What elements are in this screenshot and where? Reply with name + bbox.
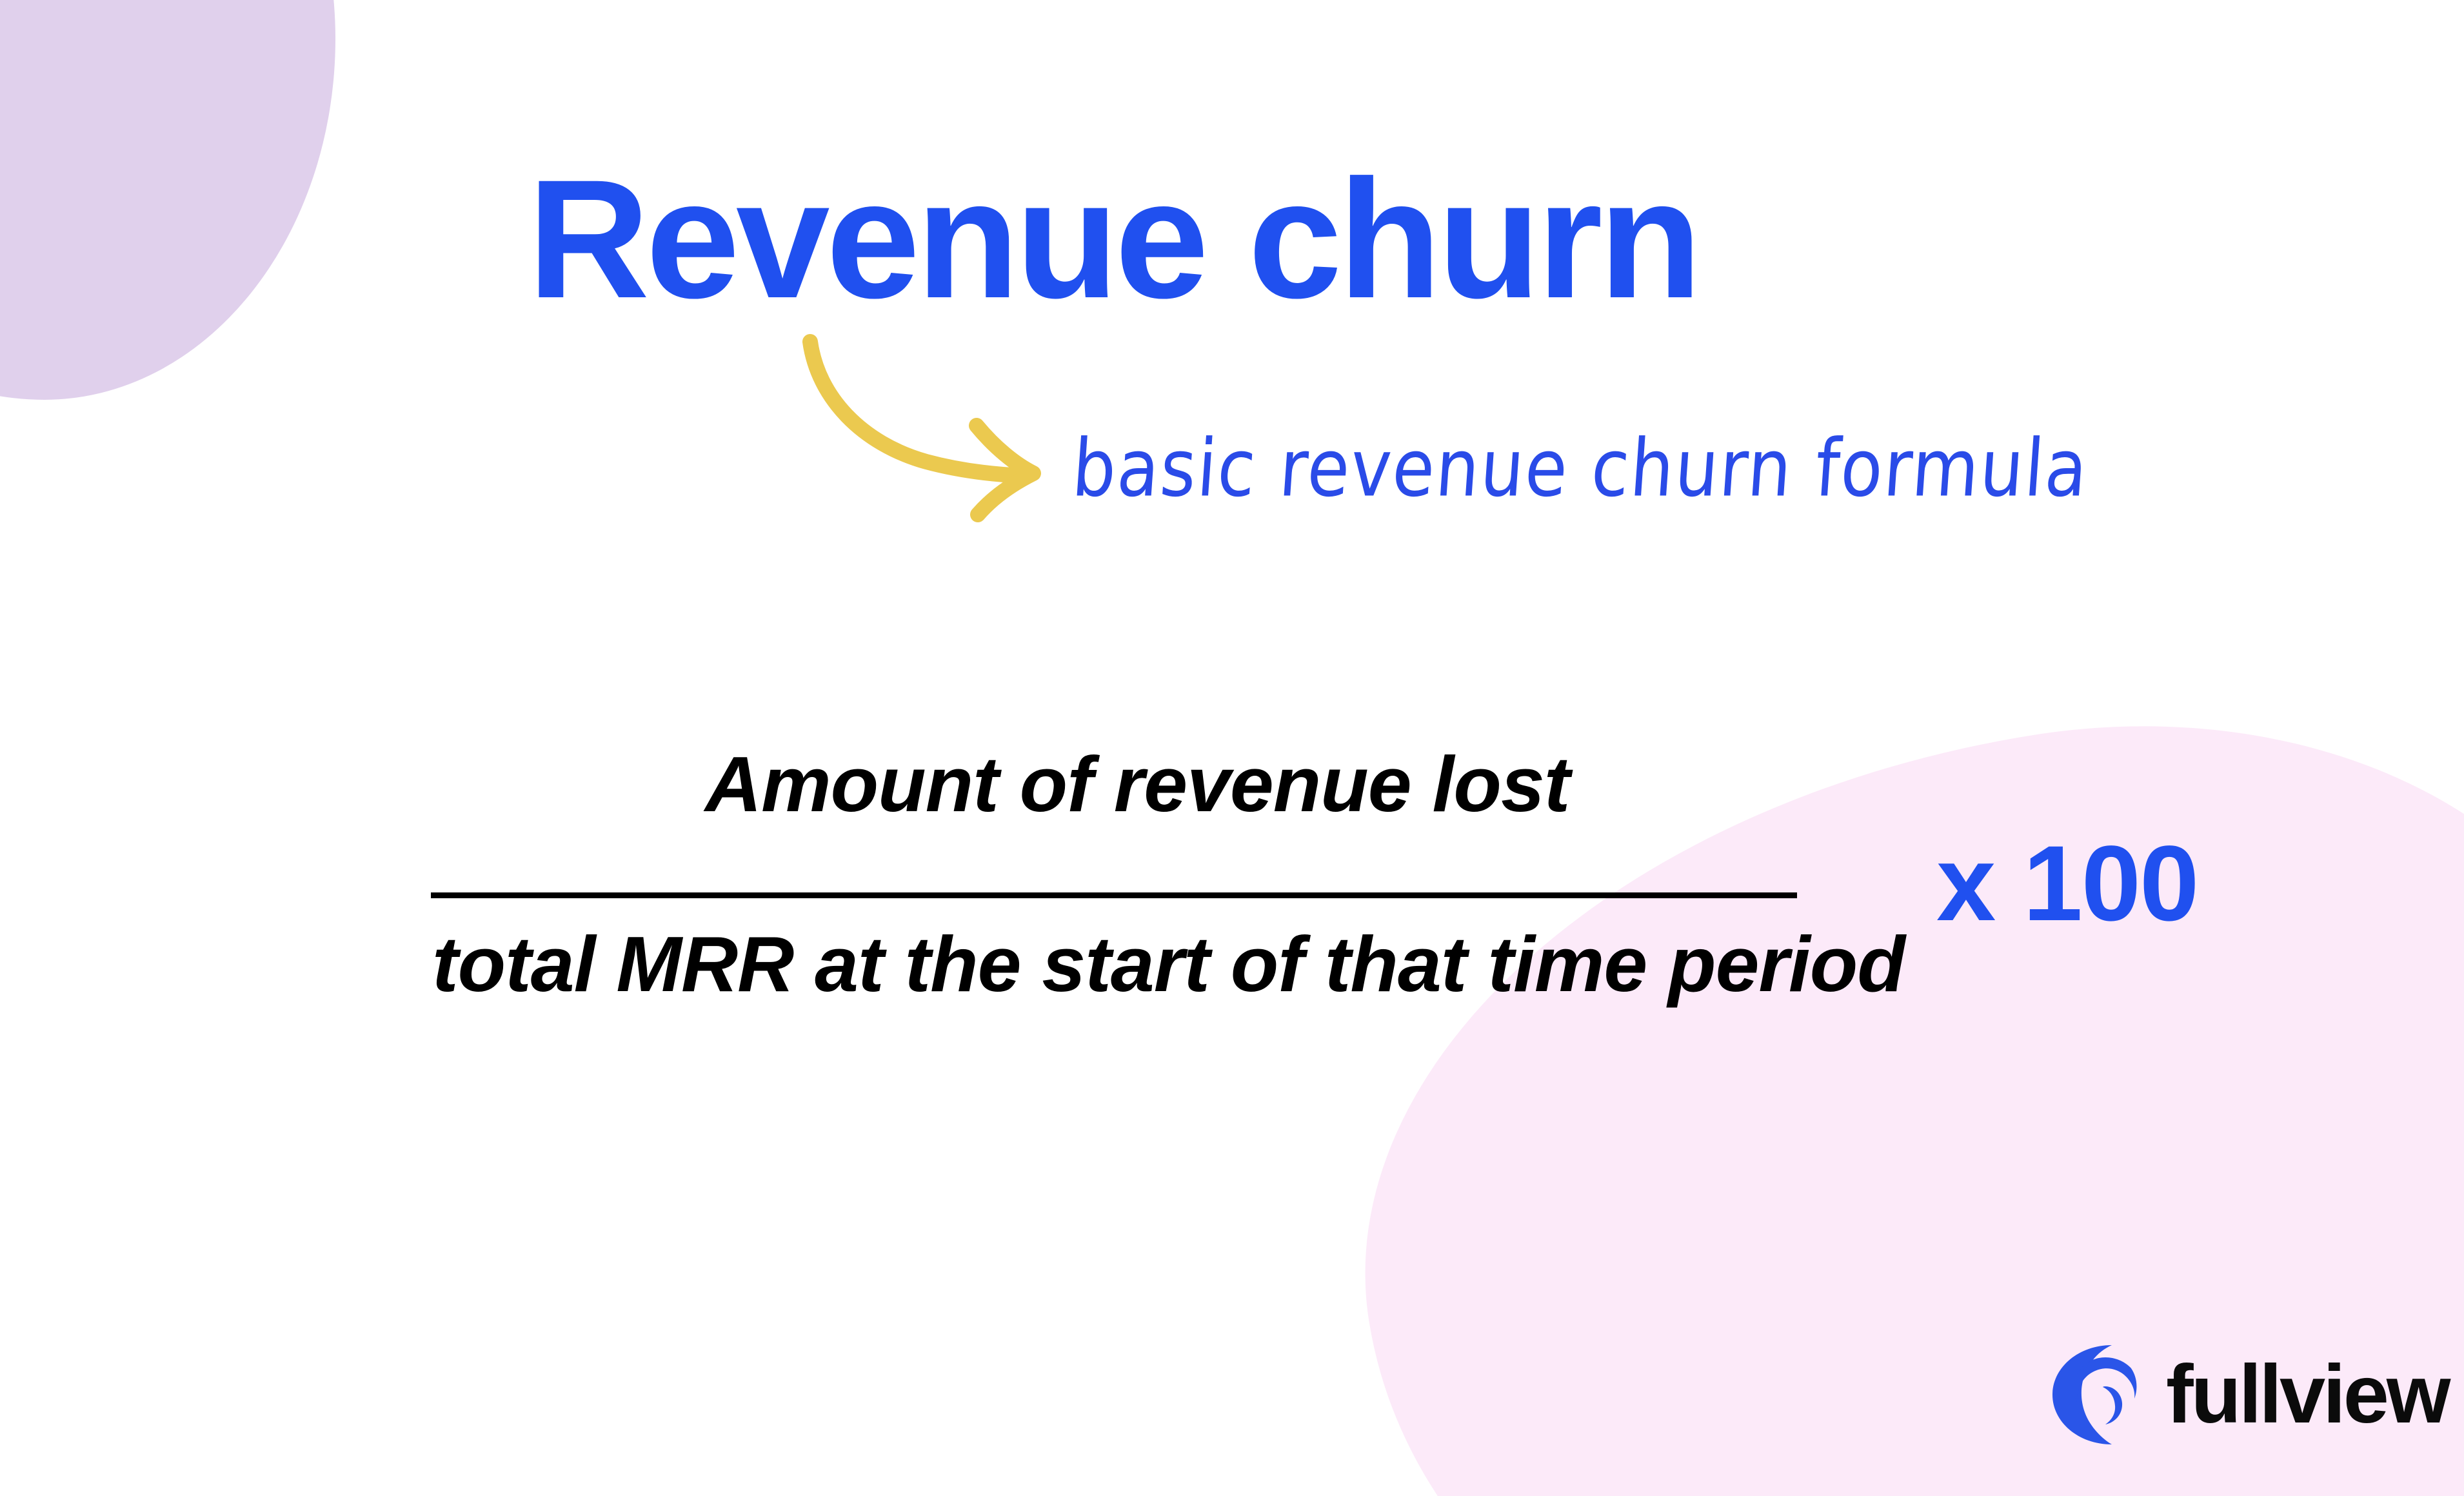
formula-fraction-bar xyxy=(431,892,1797,898)
annotation-label: basic revenue churn formula xyxy=(1069,422,2092,515)
page-title: Revenue churn xyxy=(528,155,1698,324)
formula-numerator: Amount of revenue lost xyxy=(705,745,1569,823)
purple-blob-decoration xyxy=(0,0,335,400)
formula-denominator: total MRR at the start of that time peri… xyxy=(432,925,1905,1003)
fullview-wordmark: fullview xyxy=(2166,1353,2448,1436)
formula-multiplier: x 100 xyxy=(1936,831,2198,938)
slide-canvas: Revenue churn basic revenue churn formul… xyxy=(0,0,2464,1496)
fullview-spiral-icon xyxy=(2050,1343,2148,1447)
fullview-logo: fullview xyxy=(2050,1343,2448,1447)
curved-arrow-icon xyxy=(800,335,1071,516)
